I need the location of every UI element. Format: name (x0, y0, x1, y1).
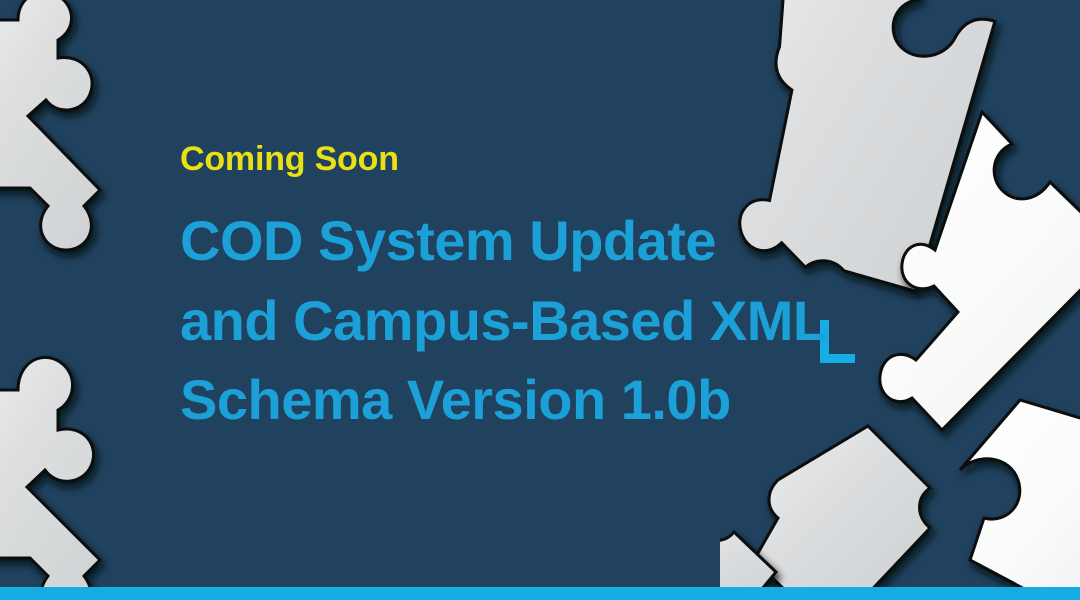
puzzle-piece-lower-centre (754, 426, 930, 600)
headline-line-2: and Campus-Based XML (180, 281, 940, 361)
page-title: COD System Update and Campus-Based XML S… (180, 201, 940, 440)
bottom-accent-bar (0, 587, 1080, 600)
headline-line-3: Schema Version 1.0b (180, 360, 940, 440)
puzzle-pieces-left-icon (0, 0, 200, 600)
eyebrow-label: Coming Soon (180, 140, 940, 179)
banner-text-block: Coming Soon COD System Update and Campus… (180, 140, 940, 440)
puzzle-piece-lower-left (0, 357, 100, 600)
puzzle-piece-bottom-right (960, 400, 1080, 600)
headline-line-1: COD System Update (180, 201, 940, 281)
puzzle-piece-upper-left (0, 0, 100, 250)
coming-soon-banner: Coming Soon COD System Update and Campus… (0, 0, 1080, 600)
